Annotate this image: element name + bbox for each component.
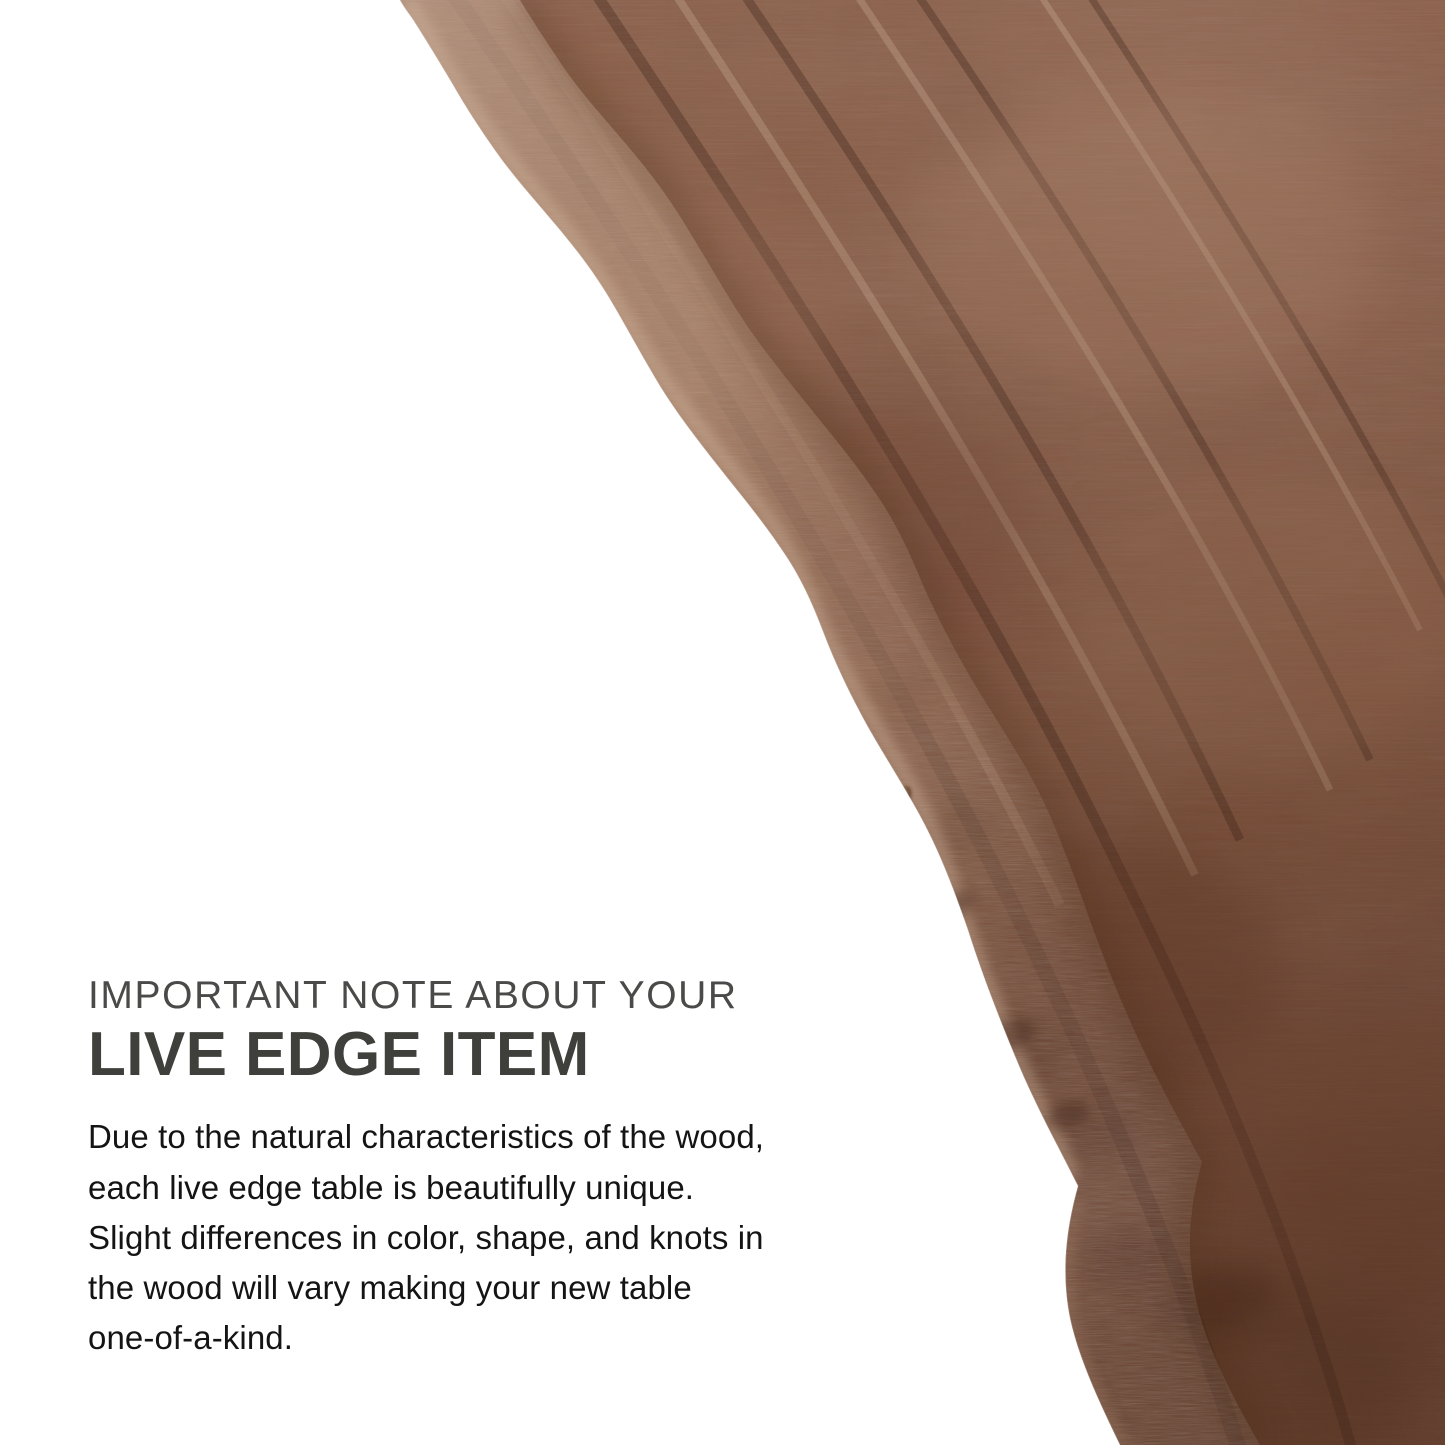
body-line: each live edge table is beautifully uniq…: [88, 1163, 818, 1213]
body-line: Due to the natural characteristics of th…: [88, 1112, 818, 1162]
product-callout-image: IMPORTANT NOTE ABOUT YOUR LIVE EDGE ITEM…: [0, 0, 1445, 1445]
body-line: the wood will vary making your new table: [88, 1263, 818, 1313]
callout-headline: LIVE EDGE ITEM: [88, 1023, 848, 1086]
callout-text-block: IMPORTANT NOTE ABOUT YOUR LIVE EDGE ITEM…: [88, 975, 848, 1363]
body-line: one-of-a-kind.: [88, 1313, 818, 1363]
callout-eyebrow: IMPORTANT NOTE ABOUT YOUR: [88, 975, 848, 1017]
body-line: Slight differences in color, shape, and …: [88, 1213, 818, 1263]
callout-body-copy: Due to the natural characteristics of th…: [88, 1112, 818, 1363]
